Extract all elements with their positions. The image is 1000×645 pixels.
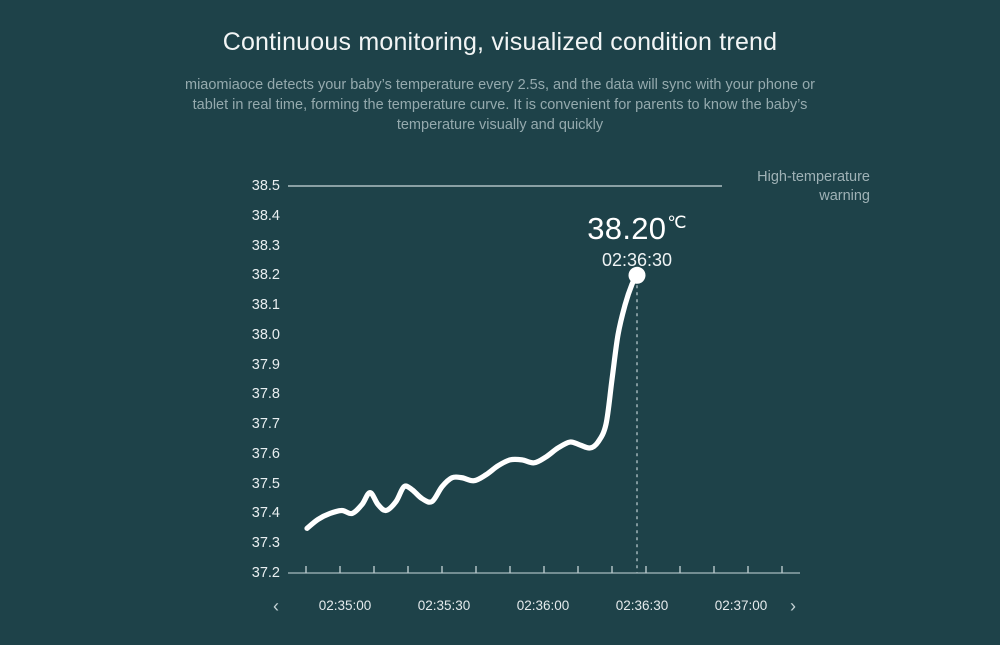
y-axis-tick-label: 38.3 <box>236 238 280 254</box>
y-axis-tick-label: 38.5 <box>236 178 280 194</box>
y-axis-tick-label: 37.6 <box>236 446 280 462</box>
x-axis-tick-label: 02:36:00 <box>517 598 570 613</box>
temperature-curve <box>307 275 637 528</box>
chart-canvas <box>0 0 1000 645</box>
chevron-left-icon[interactable]: ‹ <box>273 595 279 617</box>
temperature-chart: 38.538.438.338.238.138.037.937.837.737.6… <box>0 0 1000 645</box>
temperature-number: 38.20 <box>587 211 666 246</box>
y-axis-tick-label: 37.9 <box>236 357 280 373</box>
chevron-right-icon[interactable]: › <box>790 595 796 617</box>
y-axis-tick-label: 37.8 <box>236 386 280 402</box>
warning-label-line1: High-temperature <box>720 168 870 187</box>
y-axis-tick-label: 38.1 <box>236 297 280 313</box>
x-axis-tick-label: 02:37:00 <box>715 598 768 613</box>
x-axis-tick-label: 02:35:00 <box>319 598 372 613</box>
y-axis-tick-label: 37.2 <box>236 565 280 581</box>
y-axis-tick-label: 37.3 <box>236 535 280 551</box>
y-axis-tick-label: 37.7 <box>236 416 280 432</box>
celsius-unit: ℃ <box>667 213 686 232</box>
y-axis-tick-label: 38.2 <box>236 267 280 283</box>
y-axis-tick-label: 38.0 <box>236 327 280 343</box>
y-axis-tick-label: 37.4 <box>236 505 280 521</box>
x-axis-tick-label: 02:36:30 <box>616 598 669 613</box>
high-temperature-warning-label: High-temperature warning <box>720 168 870 206</box>
current-temperature-value: 38.20℃ <box>587 206 686 246</box>
x-axis: ‹ › 02:35:0002:35:3002:36:0002:36:3002:3… <box>0 598 1000 620</box>
y-axis-tick-label: 38.4 <box>236 208 280 224</box>
warning-label-line2: warning <box>720 187 870 206</box>
current-reading-tooltip: 38.20℃ 02:36:30 <box>587 206 686 272</box>
y-axis-tick-label: 37.5 <box>236 476 280 492</box>
current-reading-time: 02:36:30 <box>587 246 686 272</box>
x-axis-ticks <box>306 566 782 573</box>
x-axis-tick-label: 02:35:30 <box>418 598 471 613</box>
